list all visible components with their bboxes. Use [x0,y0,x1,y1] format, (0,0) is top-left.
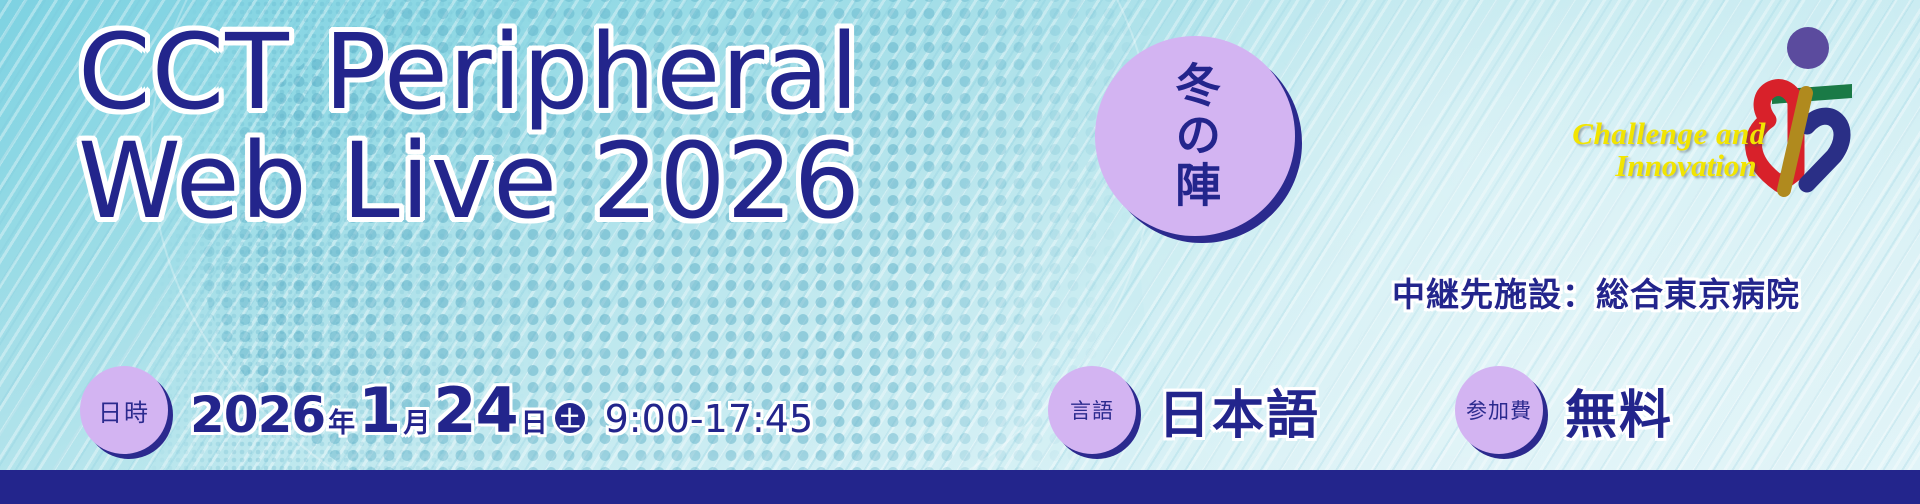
info-row: 日時 2026年1月24日土9:00-17:45 言語 日本語 参加費 無料 [0,352,1920,470]
title-line-1: CCT Peripheral [78,22,1038,123]
date-year: 2026 [190,386,325,444]
page-title: CCT Peripheral Web Live 2026 [78,22,1038,232]
logo-word-1: Challenge and [1544,118,1794,150]
info-item-fee: 参加費 無料 [1455,366,1673,454]
event-time: 9:00-17:45 [605,397,814,441]
language-value: 日本語 [1158,373,1320,448]
winter-edition-label: 冬の陣 [1171,61,1219,211]
winter-edition-badge: 冬の陣 [1095,36,1295,236]
bottom-navy-bar [0,470,1920,504]
datetime-value: 2026年1月24日土9:00-17:45 [190,374,813,447]
date-day-of-week: 土 [555,403,585,433]
language-badge-label: 言語 [1048,366,1136,454]
logo-wordmark: Challenge and Innovation [1544,118,1794,181]
datetime-badge-label: 日時 [80,366,168,454]
venue-text: 中継先施設：総合東京病院 [1392,268,1800,316]
info-item-datetime: 日時 2026年1月24日土9:00-17:45 [80,366,813,454]
logo-word-2: Innovation [1578,150,1794,182]
info-item-language: 言語 日本語 [1048,366,1320,454]
date-year-unit: 年 [328,408,355,439]
event-banner: CCT Peripheral Web Live 2026 冬の陣 Challen… [0,0,1920,504]
date-day: 24 [433,374,517,447]
fee-badge-label: 参加費 [1455,366,1543,454]
date-day-unit: 日 [521,408,548,439]
challenge-and-innovation-logo: Challenge and Innovation [1540,22,1880,212]
fee-value: 無料 [1565,373,1673,448]
date-month-unit: 月 [403,408,430,439]
title-line-2: Web Live 2026 [78,131,1038,232]
date-month: 1 [358,374,400,447]
